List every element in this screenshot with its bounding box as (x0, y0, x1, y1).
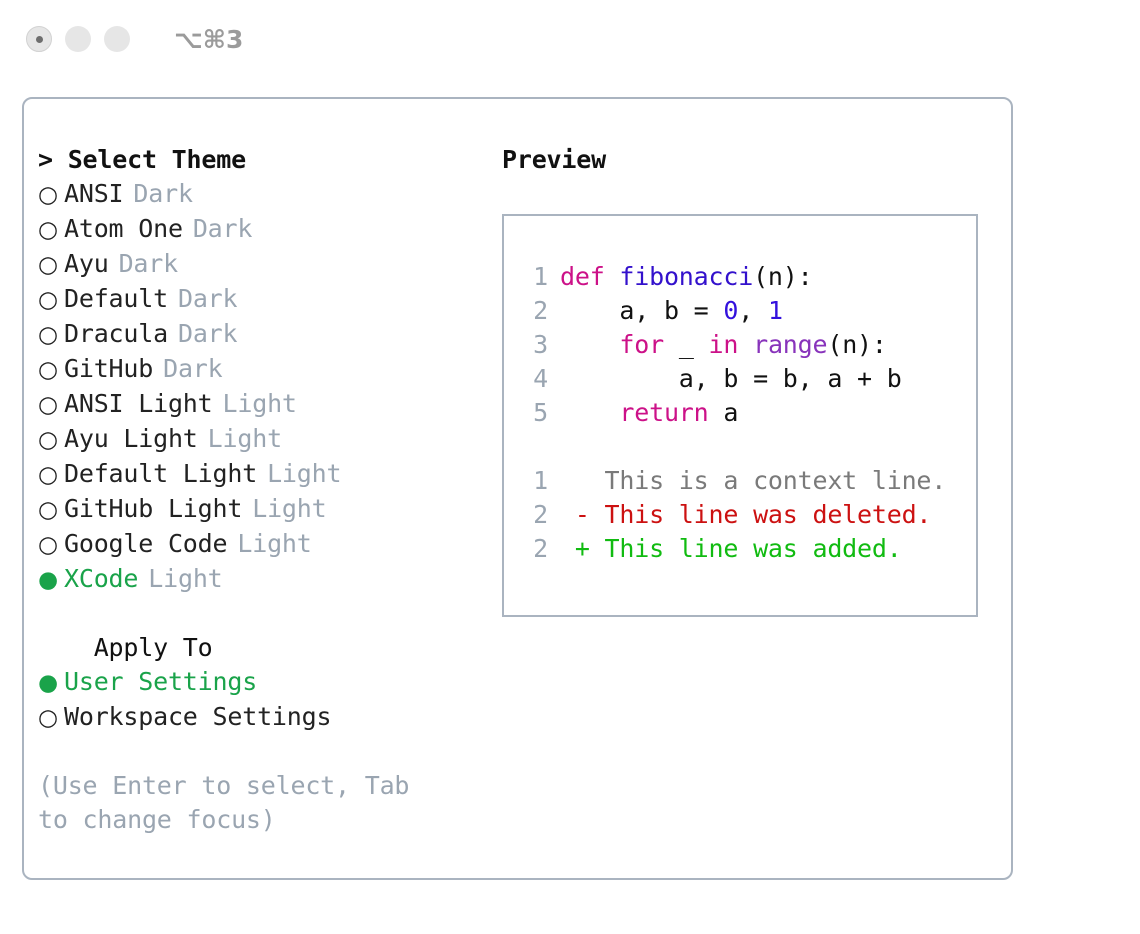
code-token-plain: _ (664, 330, 709, 359)
radio-unselected-icon: ○ (38, 283, 64, 317)
code-token-fn: fibonacci (619, 262, 753, 291)
diff-line-number: 1 (518, 464, 548, 498)
radio-unselected-icon: ○ (38, 423, 64, 457)
code-line: 1def fibonacci(n): (518, 260, 976, 294)
radio-unselected-icon: ○ (38, 493, 64, 527)
radio-unselected-icon: ○ (38, 353, 64, 387)
theme-option-label: ANSI Light (64, 387, 213, 421)
code-line: 3 for _ in range(n): (518, 328, 976, 362)
radio-unselected-icon: ○ (38, 458, 64, 492)
theme-picker-column: > Select Theme ○ANSIDark○Atom OneDark○Ay… (38, 143, 488, 837)
window-controls (26, 26, 130, 52)
window-button-minimize[interactable] (65, 26, 91, 52)
apply-to-option-label: Workspace Settings (64, 700, 331, 734)
code-token-kw: def (560, 262, 619, 291)
theme-option-kind: Light (223, 387, 297, 421)
diff-line: 2 + This line was added. (518, 532, 976, 566)
code-line-text: def fibonacci(n): (560, 260, 812, 294)
code-line-text: a, b = b, a + b (560, 362, 902, 396)
theme-option-label: GitHub Light (64, 492, 242, 526)
theme-option-label: Dracula (64, 317, 168, 351)
code-token-call: range (753, 330, 827, 359)
code-token-plain: (n): (827, 330, 886, 359)
theme-option-kind: Light (267, 457, 341, 491)
theme-option-kind: Light (252, 492, 326, 526)
diff-line-text: This is a context line. (560, 464, 946, 498)
spacer (518, 430, 976, 464)
theme-option-label: XCode (64, 562, 138, 596)
theme-option-xcode[interactable]: ●XCodeLight (38, 562, 488, 597)
radio-selected-icon: ● (38, 666, 64, 700)
theme-option-label: ANSI (64, 177, 123, 211)
preview-header: Preview (502, 143, 992, 177)
theme-option-kind: Light (208, 422, 282, 456)
code-token-num: 1 (768, 296, 783, 325)
theme-option-dracula[interactable]: ○DraculaDark (38, 317, 488, 352)
code-line-number: 1 (518, 260, 548, 294)
keyboard-hint-text: (Use Enter to select, Tab to change focu… (38, 769, 448, 837)
theme-option-ansi-light[interactable]: ○ANSI LightLight (38, 387, 488, 422)
code-token-plain: a, b = (560, 296, 723, 325)
code-line-number: 2 (518, 294, 548, 328)
window-button-maximize[interactable] (104, 26, 130, 52)
theme-option-default[interactable]: ○DefaultDark (38, 282, 488, 317)
code-token-plain: , (738, 296, 768, 325)
window-dot-icon (36, 36, 43, 43)
theme-option-default-light[interactable]: ○Default LightLight (38, 457, 488, 492)
theme-option-label: Ayu (64, 247, 109, 281)
code-token-plain: a (709, 398, 739, 427)
code-line-text: return a (560, 396, 738, 430)
theme-option-ansi[interactable]: ○ANSIDark (38, 177, 488, 212)
theme-option-ayu[interactable]: ○AyuDark (38, 247, 488, 282)
code-token-kw: return (619, 398, 708, 427)
code-line-number: 3 (518, 328, 548, 362)
apply-to-option-user-settings[interactable]: ●User Settings (38, 665, 488, 700)
diff-line-text: + This line was added. (560, 532, 902, 566)
code-token-plain (738, 330, 753, 359)
theme-option-label: Google Code (64, 527, 227, 561)
code-line-number: 5 (518, 396, 548, 430)
theme-option-github[interactable]: ○GitHubDark (38, 352, 488, 387)
theme-option-kind: Dark (178, 282, 237, 316)
app-window: ⌥⌘3 > Select Theme ○ANSIDark○Atom OneDar… (0, 0, 1140, 934)
code-token-plain (560, 330, 619, 359)
code-line: 2 a, b = 0, 1 (518, 294, 976, 328)
theme-option-kind: Dark (163, 352, 222, 386)
theme-option-label: Ayu Light (64, 422, 198, 456)
theme-option-label: Default (64, 282, 168, 316)
diff-line-number: 2 (518, 498, 548, 532)
theme-option-kind: Dark (178, 317, 237, 351)
theme-option-label: Default Light (64, 457, 257, 491)
radio-unselected-icon: ○ (38, 388, 64, 422)
code-line-number: 4 (518, 362, 548, 396)
apply-to-header: Apply To (38, 631, 488, 665)
diff-line: 1 This is a context line. (518, 464, 976, 498)
code-line-text: for _ in range(n): (560, 328, 887, 362)
main-panel: > Select Theme ○ANSIDark○Atom OneDark○Ay… (22, 97, 1013, 880)
radio-unselected-icon: ○ (38, 178, 64, 212)
apply-to-list: ●User Settings○Workspace Settings (38, 665, 488, 735)
code-line: 4 a, b = b, a + b (518, 362, 976, 396)
theme-option-ayu-light[interactable]: ○Ayu LightLight (38, 422, 488, 457)
radio-unselected-icon: ○ (38, 248, 64, 282)
code-token-plain: a, b = b, a + b (560, 364, 902, 393)
spacer (38, 597, 488, 631)
code-line: 5 return a (518, 396, 976, 430)
code-token-kw: in (709, 330, 739, 359)
diff-line-text: - This line was deleted. (560, 498, 931, 532)
radio-unselected-icon: ○ (38, 528, 64, 562)
code-token-kw: for (619, 330, 664, 359)
theme-option-kind: Dark (119, 247, 178, 281)
radio-selected-icon: ● (38, 563, 64, 597)
theme-option-label: Atom One (64, 212, 183, 246)
radio-unselected-icon: ○ (38, 213, 64, 247)
radio-unselected-icon: ○ (38, 701, 64, 735)
theme-option-kind: Light (237, 527, 311, 561)
radio-unselected-icon: ○ (38, 318, 64, 352)
preview-box: 1def fibonacci(n):2 a, b = 0, 13 for _ i… (502, 214, 978, 617)
code-line-text: a, b = 0, 1 (560, 294, 783, 328)
titlebar: ⌥⌘3 (0, 0, 1140, 78)
theme-option-kind: Dark (193, 212, 252, 246)
select-theme-header: > Select Theme (38, 143, 488, 177)
theme-option-kind: Dark (133, 177, 192, 211)
code-token-num: 0 (723, 296, 738, 325)
apply-to-option-workspace-settings[interactable]: ○Workspace Settings (38, 700, 488, 735)
theme-option-github-light[interactable]: ○GitHub LightLight (38, 492, 488, 527)
code-token-plain (560, 398, 619, 427)
theme-list: ○ANSIDark○Atom OneDark○AyuDark○DefaultDa… (38, 177, 488, 597)
code-sample: 1def fibonacci(n):2 a, b = 0, 13 for _ i… (518, 260, 976, 430)
theme-option-google-code[interactable]: ○Google CodeLight (38, 527, 488, 562)
code-token-plain: (n): (753, 262, 812, 291)
diff-line-number: 2 (518, 532, 548, 566)
theme-option-label: GitHub (64, 352, 153, 386)
diff-sample: 1 This is a context line.2 - This line w… (518, 464, 976, 566)
theme-option-atom-one[interactable]: ○Atom OneDark (38, 212, 488, 247)
apply-to-option-label: User Settings (64, 665, 257, 699)
window-button-close[interactable] (26, 26, 52, 52)
preview-column: Preview 1def fibonacci(n):2 a, b = 0, 13… (502, 143, 992, 617)
theme-option-kind: Light (148, 562, 222, 596)
keyboard-shortcut-label: ⌥⌘3 (174, 25, 243, 54)
diff-line: 2 - This line was deleted. (518, 498, 976, 532)
